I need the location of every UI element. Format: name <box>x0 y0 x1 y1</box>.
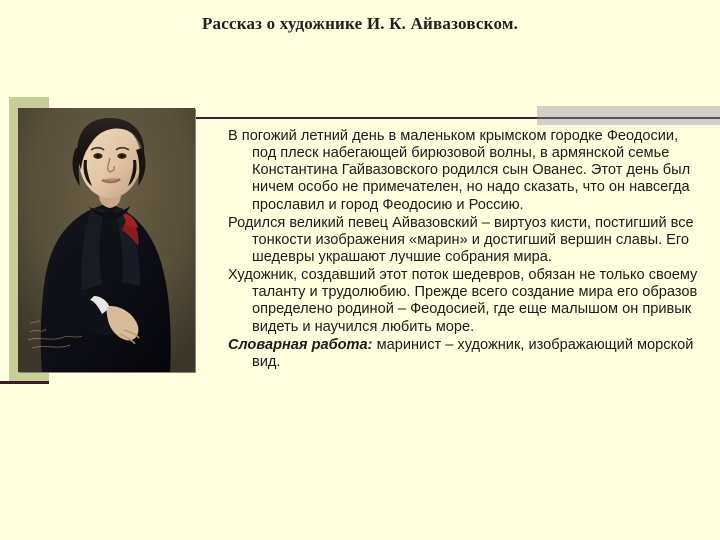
page-title: Рассказ о художнике И. К. Айвазовском. <box>0 14 720 34</box>
aivazovsky-portrait-image <box>18 108 195 372</box>
maroon-decor-rule <box>0 381 49 384</box>
slide-canvas: Рассказ о художнике И. К. Айвазовском. <box>0 0 720 540</box>
vocabulary-label: Словарная работа: <box>228 337 373 353</box>
paragraph-3: Художник, создавший этот поток шедевров,… <box>228 267 706 336</box>
body-text-block: В погожий летний день в маленьком крымск… <box>228 128 706 371</box>
paragraph-1: В погожий летний день в маленьком крымск… <box>228 128 706 214</box>
lavender-decor-bar <box>537 106 720 125</box>
paragraph-2: Родился великий певец Айвазовский – вирт… <box>228 215 706 266</box>
paragraph-vocabulary: Словарная работа: маринист – художник, и… <box>228 337 706 371</box>
